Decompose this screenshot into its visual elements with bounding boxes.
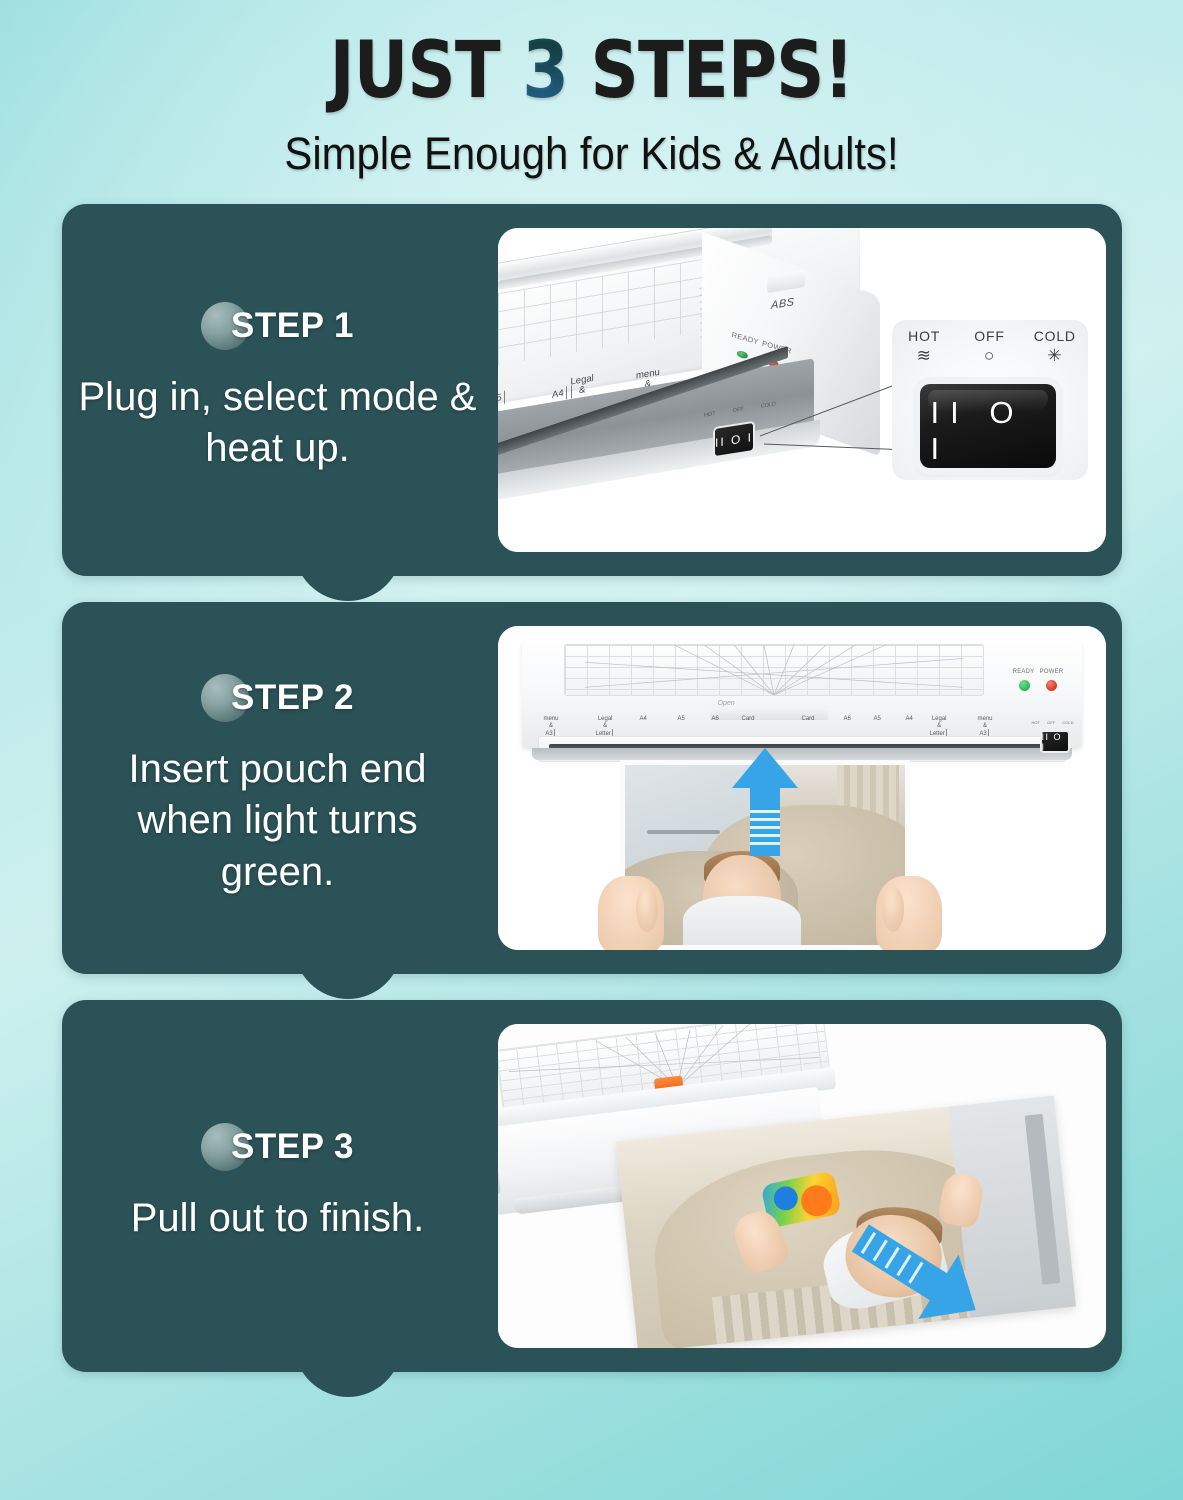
step-2-image-panel: Open READYPOWER menu&A3 Legal&Letter: [498, 626, 1106, 950]
step-3-description: Pull out to finish.: [131, 1193, 425, 1244]
laminator-front-scene: Open READYPOWER menu&A3 Legal&Letter: [498, 626, 1106, 950]
photo-baby-body: [683, 896, 801, 950]
power-switch[interactable]: II O I: [1042, 732, 1068, 751]
laminator-output-scene: [498, 1024, 1106, 1348]
callout-off: OFF ○: [959, 328, 1019, 366]
page-title: JUST 3 STEPS!: [83, 32, 1100, 110]
step-1-label-row: STEP 1: [201, 306, 354, 346]
step-2-label: STEP 2: [231, 678, 354, 717]
insert-up-arrow-icon: [730, 748, 800, 856]
status-leds: READYPOWER: [1010, 660, 1066, 696]
ready-led-label: READY: [1010, 669, 1038, 675]
callout-rocker-switch[interactable]: II O I: [920, 384, 1056, 468]
trimmer-lid: [564, 644, 984, 696]
page-title-part2: STEPS!: [568, 26, 853, 116]
hand-right: [876, 876, 942, 950]
step-2-label-row: STEP 2: [201, 678, 354, 718]
callout-mode-labels: HOT ≋ OFF ○ COLD ✳: [892, 328, 1088, 366]
size-guide-labels: menu&A3 Legal&Letter A4 A5 A6 Card Card …: [544, 716, 1014, 738]
power-led-icon: [1046, 680, 1057, 691]
callout-hot: HOT ≋: [894, 328, 954, 366]
step-card-1: STEP 1 Plug in, select mode & heat up. A…: [62, 204, 1122, 576]
protractor-lines-icon: [565, 645, 983, 695]
page-subtitle: Simple Enough for Kids & Adults!: [41, 128, 1141, 180]
page-title-number: 3: [522, 26, 568, 116]
thumb-right: [882, 886, 904, 932]
step-1-label: STEP 1: [231, 306, 354, 345]
ready-led-icon: [1019, 680, 1030, 691]
callout-switch-glyphs: II O I: [920, 395, 1056, 467]
photo-drawer-line: [647, 830, 720, 834]
step-3-label-row: STEP 3: [201, 1127, 354, 1167]
heat-waves-icon: ≋: [894, 346, 954, 366]
laminator-foot: [532, 748, 1072, 760]
switch-mode-labels: HOT OFF COLD: [1032, 720, 1074, 725]
card-tail-1: [294, 567, 402, 601]
open-label: Open: [718, 700, 735, 707]
step-card-3: STEP 3 Pull out to finish.: [62, 1000, 1122, 1372]
circle-off-icon: ○: [959, 346, 1019, 366]
step-1-description: Plug in, select mode & heat up.: [78, 372, 478, 474]
step-card-2: STEP 2 Insert pouch end when light turns…: [62, 602, 1122, 974]
step-1-text: STEP 1 Plug in, select mode & heat up.: [62, 306, 498, 474]
card-tail-3: [294, 1363, 402, 1397]
switch-hot-label: HOT: [1032, 720, 1040, 725]
page-title-part1: JUST: [330, 26, 523, 116]
callout-cold: COLD ✳: [1025, 328, 1085, 366]
switch-off-label: OFF: [1047, 720, 1055, 725]
hand-left: [598, 876, 664, 950]
switch-callout: HOT ≋ OFF ○ COLD ✳ II O I: [892, 320, 1088, 480]
card-tail-2: [294, 965, 402, 999]
pull-out-arrow-icon: [850, 1220, 986, 1328]
laminator-front-body: Open READYPOWER menu&A3 Legal&Letter: [522, 640, 1082, 748]
laminator-angle-scene: ABS READYPOWER A5 A4 Legal&Letter: [498, 228, 1106, 552]
step-3-text: STEP 3 Pull out to finish.: [62, 1127, 498, 1244]
power-led-label: POWER: [1038, 669, 1066, 675]
step-2-description: Insert pouch end when light turns green.: [78, 744, 478, 898]
thumb-left: [636, 886, 658, 932]
switch-cold-label: COLD: [1062, 720, 1073, 725]
step-2-text: STEP 2 Insert pouch end when light turns…: [62, 678, 498, 898]
page-header: JUST 3 STEPS! Simple Enough for Kids & A…: [0, 0, 1183, 180]
step-3-image-panel: [498, 1024, 1106, 1348]
steps-list: STEP 1 Plug in, select mode & heat up. A…: [0, 204, 1183, 1372]
step-3-label: STEP 3: [231, 1127, 354, 1166]
laminated-photo-output: [616, 1096, 1076, 1348]
snowflake-icon: ✳: [1025, 346, 1085, 366]
step-1-image-panel: ABS READYPOWER A5 A4 Legal&Letter: [498, 228, 1106, 552]
